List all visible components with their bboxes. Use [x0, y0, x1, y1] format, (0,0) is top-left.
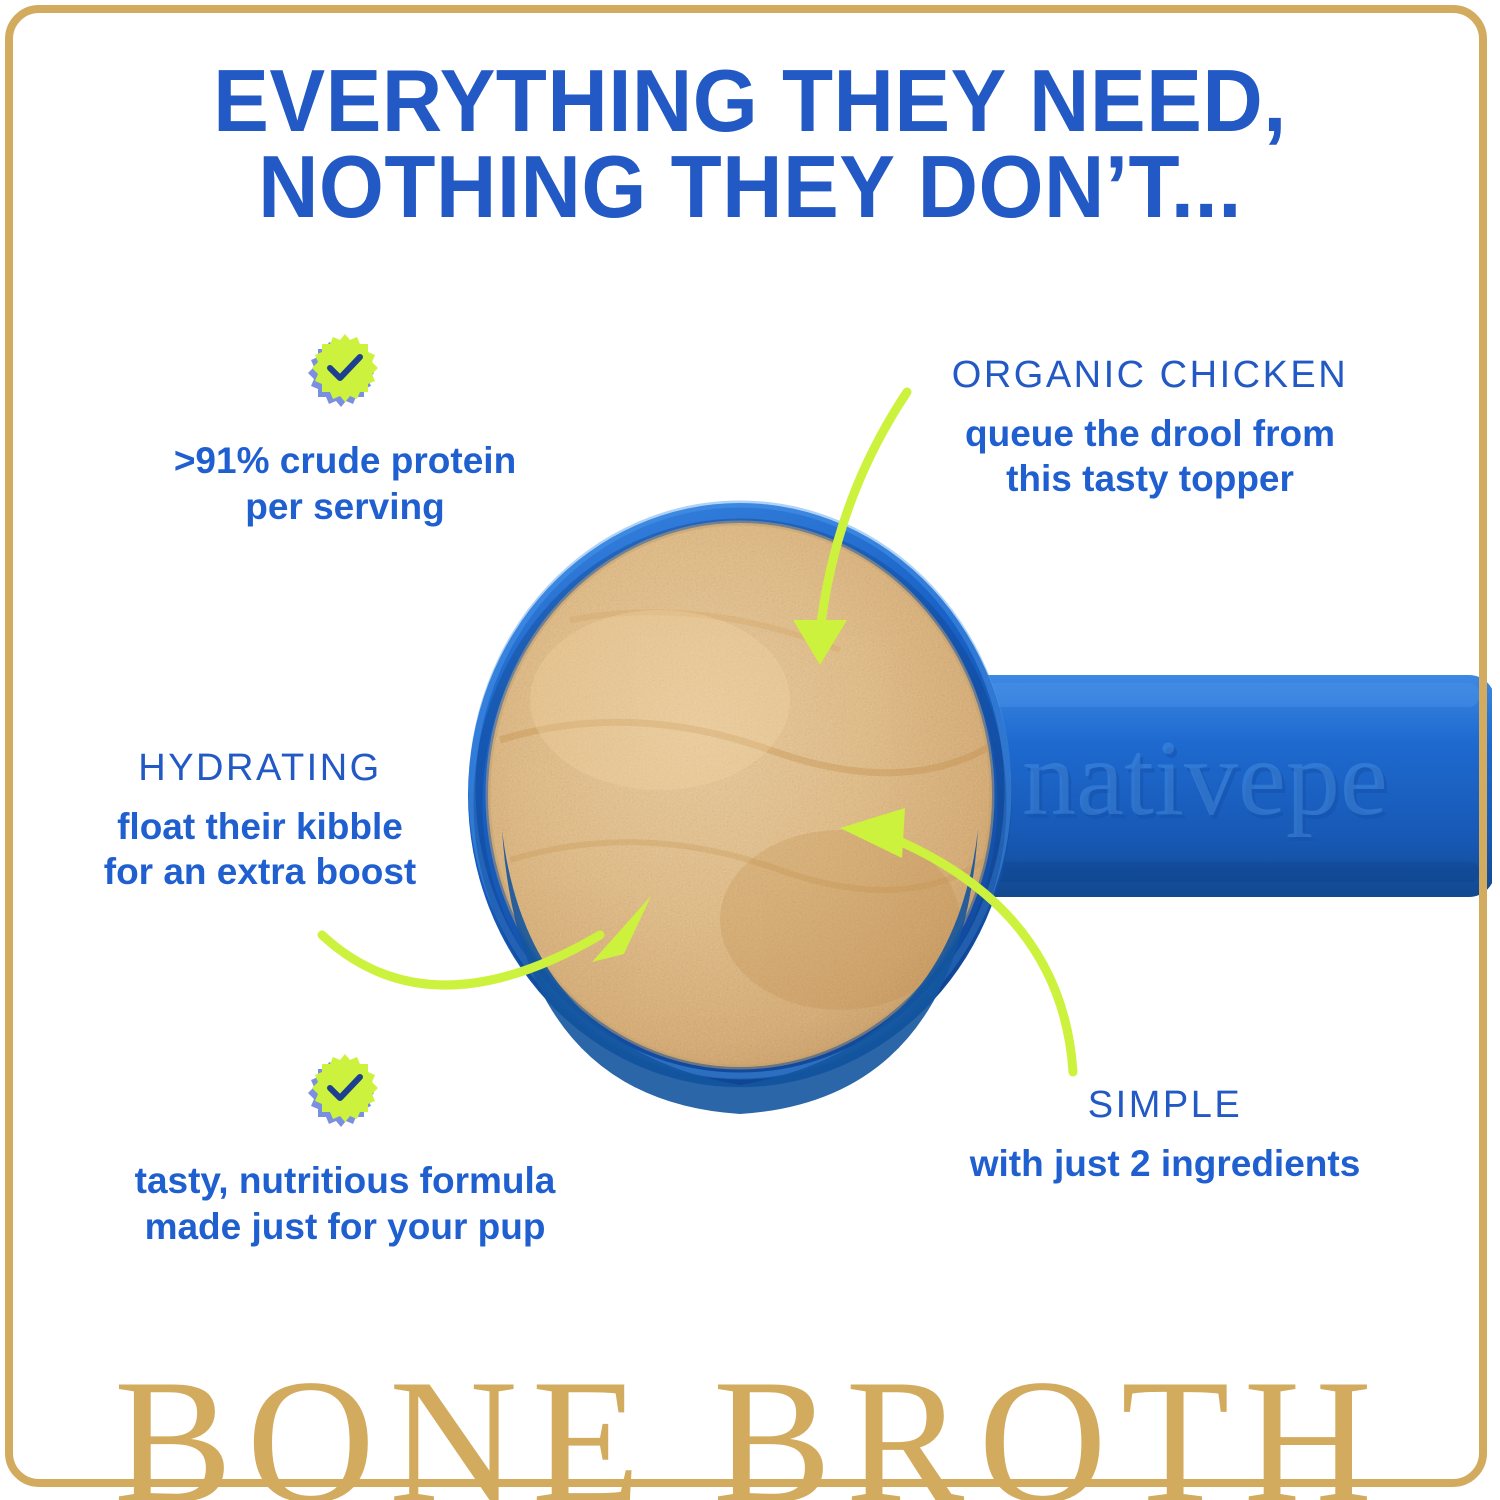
callout-simple-title: SIMPLE [955, 1085, 1375, 1127]
callout-hydrating-body: float their kibble for an extra boost [60, 804, 460, 894]
headline-line-1: EVERYTHING THEY NEED, [213, 51, 1287, 150]
headline-line-2: NOTHING THEY DON’T... [38, 144, 1463, 230]
product-image-scoop: nativepe nativepe [440, 500, 1492, 1120]
svg-text:nativepe: nativepe [1022, 719, 1388, 838]
product-wordmark: BONE BROTH [0, 1352, 1500, 1500]
feature-crude-protein: >91% crude protein per serving [125, 330, 565, 531]
feature-line-2: per serving [125, 484, 565, 530]
infographic-canvas: EVERYTHING THEY NEED, NOTHING THEY DON’T… [0, 0, 1500, 1500]
callout-simple: SIMPLE with just 2 ingredients [955, 1085, 1375, 1186]
feature-tasty-formula: tasty, nutritious formula made just for … [110, 1050, 580, 1251]
callout-line-1: queue the drool from [915, 411, 1385, 456]
callout-line-2: for an extra boost [60, 849, 460, 894]
feature-line-1: tasty, nutritious formula [110, 1158, 580, 1204]
callout-simple-body: with just 2 ingredients [955, 1141, 1375, 1186]
callout-line-1: with just 2 ingredients [955, 1141, 1375, 1186]
check-badge-icon [304, 1050, 386, 1132]
callout-organic-chicken-body: queue the drool from this tasty topper [915, 411, 1385, 501]
feature-line-1: >91% crude protein [125, 438, 565, 484]
feature-crude-protein-text: >91% crude protein per serving [125, 438, 565, 531]
callout-organic-chicken: ORGANIC CHICKEN queue the drool from thi… [915, 355, 1385, 501]
callout-hydrating-title: HYDRATING [60, 748, 460, 790]
callout-hydrating: HYDRATING float their kibble for an extr… [60, 748, 460, 894]
callout-line-2: this tasty topper [915, 456, 1385, 501]
feature-line-2: made just for your pup [110, 1204, 580, 1250]
page-title: EVERYTHING THEY NEED, NOTHING THEY DON’T… [38, 58, 1463, 230]
callout-organic-chicken-title: ORGANIC CHICKEN [915, 355, 1385, 397]
callout-line-1: float their kibble [60, 804, 460, 849]
check-badge-icon [304, 330, 386, 412]
feature-tasty-formula-text: tasty, nutritious formula made just for … [110, 1158, 580, 1251]
